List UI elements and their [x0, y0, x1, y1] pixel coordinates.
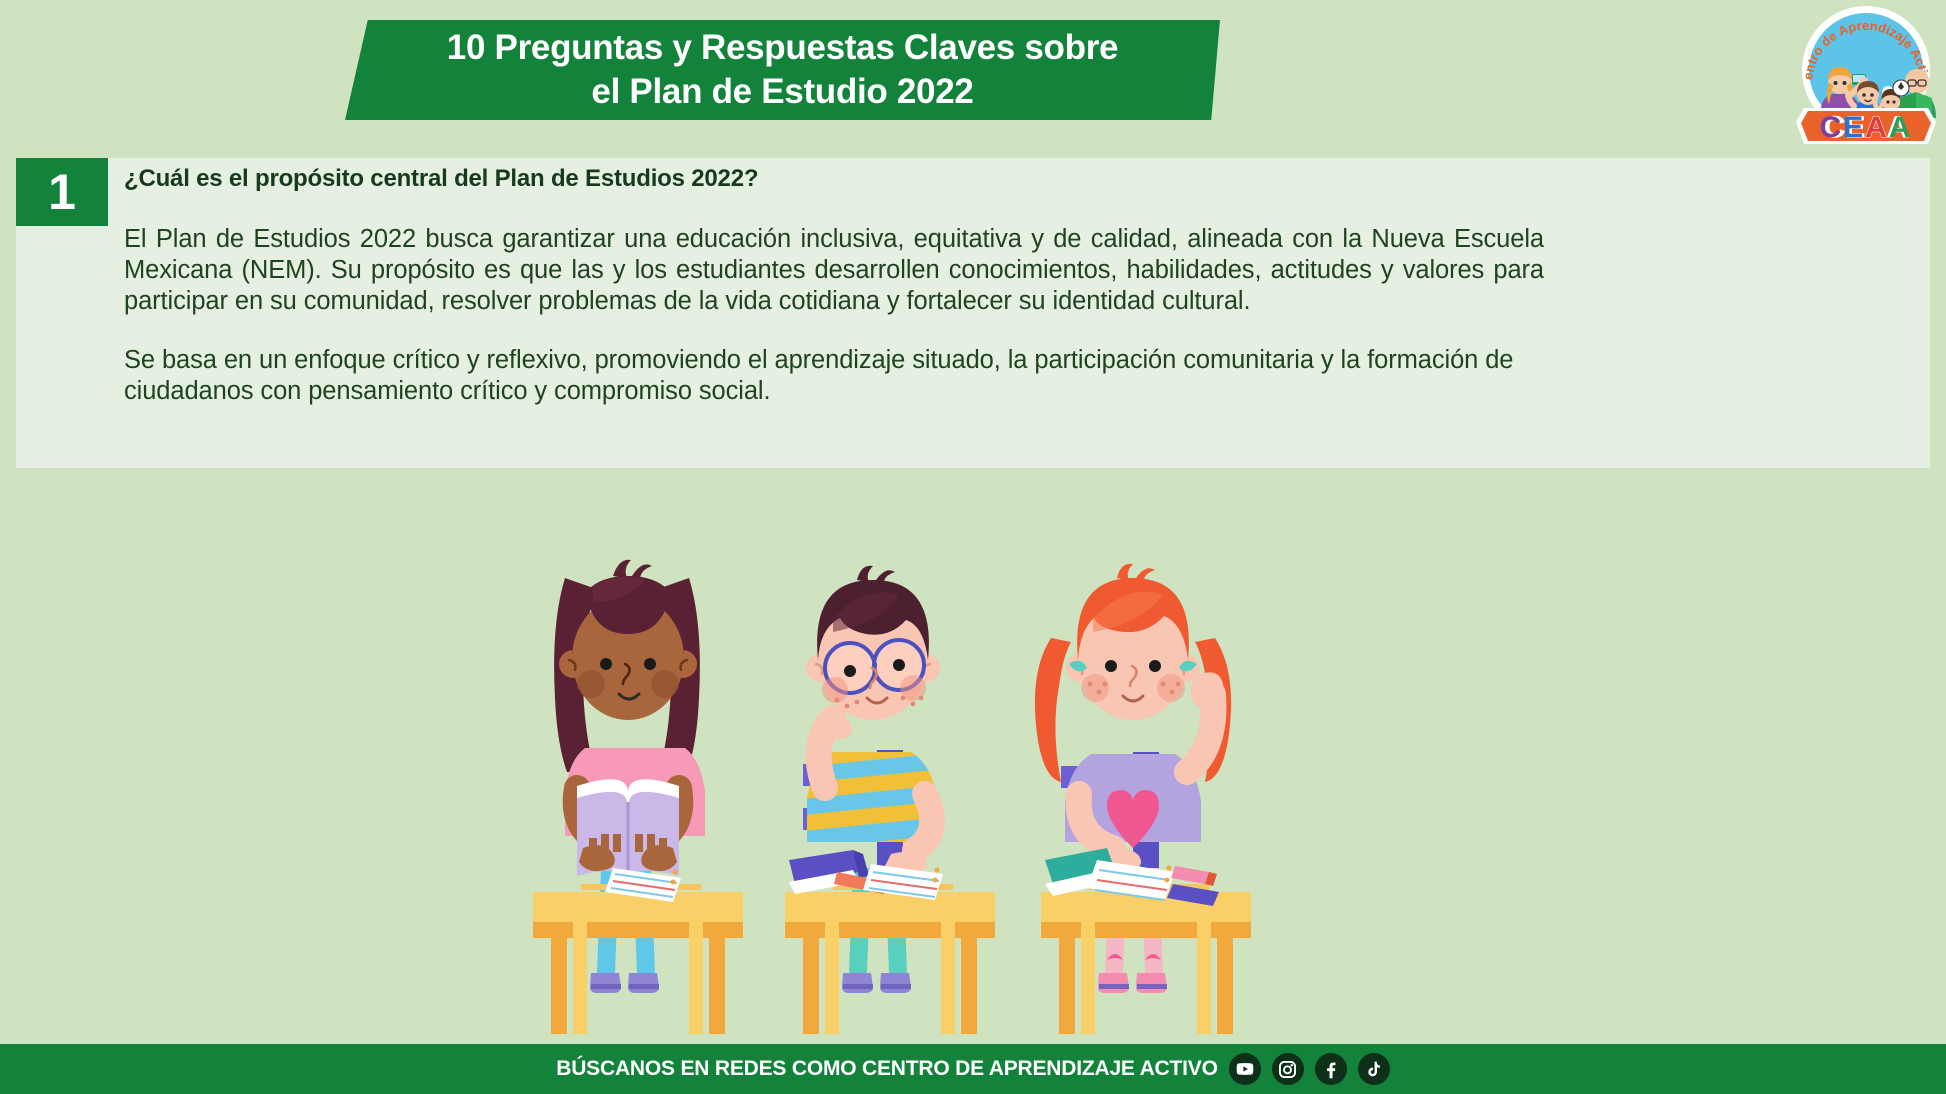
ceaa-logo: Centro de Aprendizaje Activo [1790, 2, 1942, 148]
logo-acronym-banner: CEAA CEAA [1796, 108, 1936, 144]
answer-paragraph-1: El Plan de Estudios 2022 busca garantiza… [124, 224, 1544, 317]
question-number-badge: 1 [16, 158, 108, 226]
header: 10 Preguntas y Respuestas Claves sobre e… [0, 0, 1946, 150]
title-banner: 10 Preguntas y Respuestas Claves sobre e… [345, 20, 1220, 120]
question-heading: ¿Cuál es el propósito central del Plan d… [124, 164, 1544, 194]
title-line-1: 10 Preguntas y Respuestas Claves sobre [447, 26, 1118, 70]
question-number: 1 [48, 167, 76, 217]
answer-paragraph-2: Se basa en un enfoque crítico y reflexiv… [124, 345, 1544, 407]
footer-text: BÚSCANOS EN REDES COMO CENTRO DE APRENDI… [556, 1057, 1217, 1081]
youtube-icon[interactable] [1229, 1053, 1261, 1085]
infographic-page: 10 Preguntas y Respuestas Claves sobre e… [0, 0, 1946, 1094]
tiktok-icon[interactable] [1358, 1053, 1390, 1085]
title-line-2: el Plan de Estudio 2022 [591, 70, 973, 114]
svg-text:CEAA: CEAA [1819, 111, 1912, 144]
content-body: ¿Cuál es el propósito central del Plan d… [124, 164, 1544, 407]
footer-bar: BÚSCANOS EN REDES COMO CENTRO DE APRENDI… [0, 1044, 1946, 1094]
students-illustration [0, 468, 1946, 1034]
instagram-icon[interactable] [1272, 1053, 1304, 1085]
facebook-icon[interactable] [1315, 1053, 1347, 1085]
